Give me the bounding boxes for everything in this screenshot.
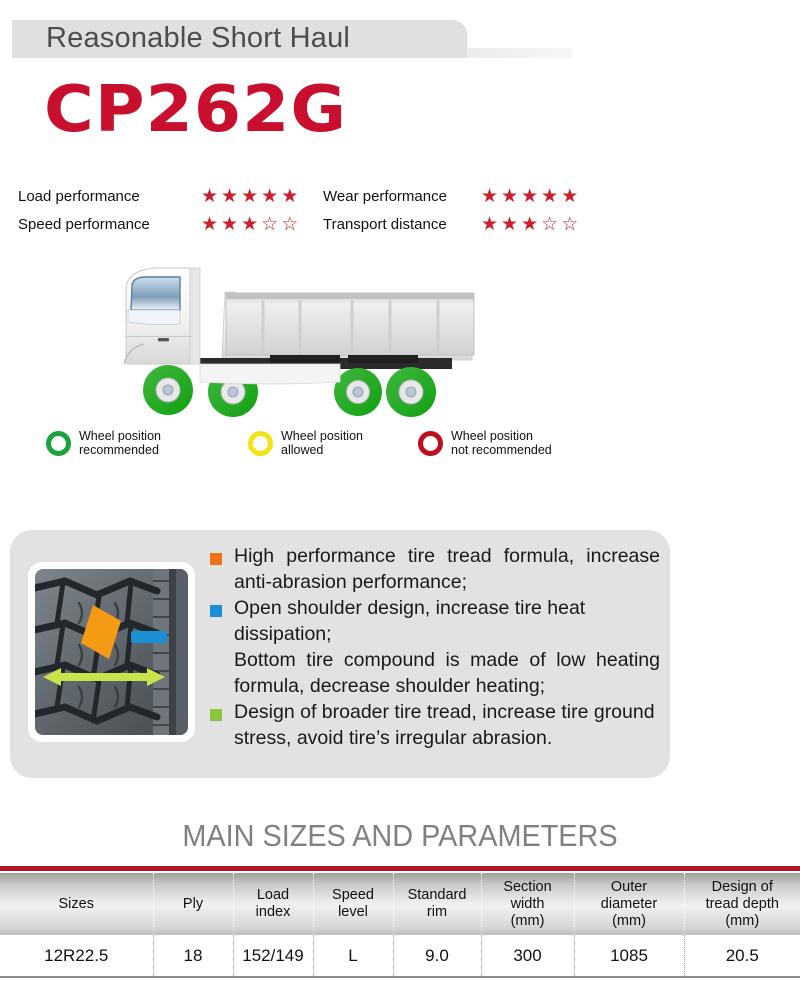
- feature-bullet-text: Bottom tire compound is made of low heat…: [234, 647, 660, 699]
- th-tread-depth: Design oftread depth(mm): [684, 873, 800, 935]
- star-filled-icon: ★: [201, 187, 218, 206]
- cell-speed-level: L: [313, 935, 393, 977]
- tread-image-frame: [28, 562, 195, 742]
- rating-load-performance: Load performance ★★★★★: [18, 187, 323, 206]
- feature-bullet-item: Bottom tire compound is made of low heat…: [210, 647, 660, 699]
- star-filled-icon: ★: [261, 187, 278, 206]
- feature-bullet-text: Design of broader tire tread, increase t…: [234, 699, 660, 751]
- star-empty-icon: ☆: [281, 215, 298, 234]
- feature-bullet-list: High performance tire tread formula, inc…: [210, 543, 660, 751]
- star-filled-icon: ★: [241, 215, 258, 234]
- star-filled-icon: ★: [521, 187, 538, 206]
- features-panel: High performance tire tread formula, inc…: [10, 530, 670, 778]
- star-empty-icon: ☆: [561, 215, 578, 234]
- feature-bullet-text: Open shoulder design, increase tire heat…: [234, 595, 660, 647]
- wheel-ring-red-icon: [418, 431, 443, 456]
- model-name: CP262G: [44, 78, 347, 142]
- legend-label: Wheel positionallowed: [281, 430, 363, 457]
- wheel-position-legend: Wheel positionrecommended Wheel position…: [46, 430, 646, 470]
- star-filled-icon: ★: [221, 215, 238, 234]
- cell-outer-diameter: 1085: [574, 935, 684, 977]
- truck-illustration: [100, 252, 500, 427]
- legend-label: Wheel positionnot recommended: [451, 430, 552, 457]
- feature-bullet-item: High performance tire tread formula, inc…: [210, 543, 660, 595]
- rating-stars: ★★★☆☆: [193, 215, 323, 234]
- rating-label: Transport distance: [323, 216, 473, 233]
- star-filled-icon: ★: [221, 187, 238, 206]
- th-load-index: Loadindex: [233, 873, 313, 935]
- rating-label: Load performance: [18, 188, 178, 205]
- cell-standard-rim: 9.0: [393, 935, 481, 977]
- rating-label: Speed performance: [18, 216, 178, 233]
- rating-speed-performance: Speed performance ★★★☆☆: [18, 215, 323, 234]
- th-standard-rim: Standardrim: [393, 873, 481, 935]
- star-filled-icon: ★: [541, 187, 558, 206]
- wheel-ring-green-icon: [46, 431, 71, 456]
- rating-transport-distance: Transport distance ★★★☆☆: [323, 215, 603, 234]
- legend-label: Wheel positionrecommended: [79, 430, 161, 457]
- rating-row: Load performance ★★★★★ Wear performance …: [18, 182, 618, 210]
- feature-bullet-text: High performance tire tread formula, inc…: [234, 543, 660, 595]
- cell-ply: 18: [153, 935, 233, 977]
- rating-stars: ★★★★★: [193, 187, 323, 206]
- legend-item-not-recommended: Wheel positionnot recommended: [418, 430, 552, 457]
- specifications-table-wrap: Sizes Ply Loadindex Speedlevel Standardr…: [0, 866, 800, 978]
- bullet-marker-orange-icon: [210, 553, 222, 565]
- cell-section-width: 300: [481, 935, 574, 977]
- legend-item-recommended: Wheel positionrecommended: [46, 430, 161, 457]
- cell-sizes: 12R22.5: [0, 935, 153, 977]
- th-ply: Ply: [153, 873, 233, 935]
- rating-label: Wear performance: [323, 188, 473, 205]
- star-empty-icon: ☆: [261, 215, 278, 234]
- star-filled-icon: ★: [241, 187, 258, 206]
- bullet-marker-none-icon: [210, 657, 222, 669]
- legend-item-allowed: Wheel positionallowed: [248, 430, 363, 457]
- star-filled-icon: ★: [561, 187, 578, 206]
- feature-bullet-item: Open shoulder design, increase tire heat…: [210, 595, 660, 647]
- th-section-width: Sectionwidth(mm): [481, 873, 574, 935]
- rating-wear-performance: Wear performance ★★★★★: [323, 187, 603, 206]
- star-filled-icon: ★: [501, 187, 518, 206]
- wheel-ring-yellow-icon: [248, 431, 273, 456]
- th-speed-level: Speedlevel: [313, 873, 393, 935]
- section-title: MAIN SIZES AND PARAMETERS: [28, 818, 772, 854]
- cell-tread-depth: 20.5: [684, 935, 800, 977]
- rating-row: Speed performance ★★★☆☆ Transport distan…: [18, 210, 618, 238]
- banner-title: Reasonable Short Haul: [46, 22, 476, 58]
- star-filled-icon: ★: [281, 187, 298, 206]
- bullet-marker-green-icon: [210, 709, 222, 721]
- star-filled-icon: ★: [501, 215, 518, 234]
- header-banner: Reasonable Short Haul: [0, 10, 800, 60]
- th-outer-diameter: Outerdiameter(mm): [574, 873, 684, 935]
- shoulder-slot-highlight: [131, 631, 167, 643]
- specifications-table: Sizes Ply Loadindex Speedlevel Standardr…: [0, 873, 800, 978]
- rating-stars: ★★★☆☆: [473, 215, 603, 234]
- feature-bullet-item: Design of broader tire tread, increase t…: [210, 699, 660, 751]
- product-spec-sheet: Reasonable Short Haul CP262G Load perfor…: [0, 0, 800, 1000]
- table-row: 12R22.5 18 152/149 L 9.0 300 1085 20.5: [0, 935, 800, 977]
- tire-tread-image: [35, 569, 188, 735]
- star-filled-icon: ★: [481, 215, 498, 234]
- th-sizes: Sizes: [0, 873, 153, 935]
- star-filled-icon: ★: [521, 215, 538, 234]
- star-empty-icon: ☆: [541, 215, 558, 234]
- star-filled-icon: ★: [201, 215, 218, 234]
- rating-stars: ★★★★★: [473, 187, 603, 206]
- cell-load-index: 152/149: [233, 935, 313, 977]
- bullet-marker-blue-icon: [210, 605, 222, 617]
- star-filled-icon: ★: [481, 187, 498, 206]
- table-header-row: Sizes Ply Loadindex Speedlevel Standardr…: [0, 873, 800, 935]
- ratings-block: Load performance ★★★★★ Wear performance …: [18, 182, 618, 238]
